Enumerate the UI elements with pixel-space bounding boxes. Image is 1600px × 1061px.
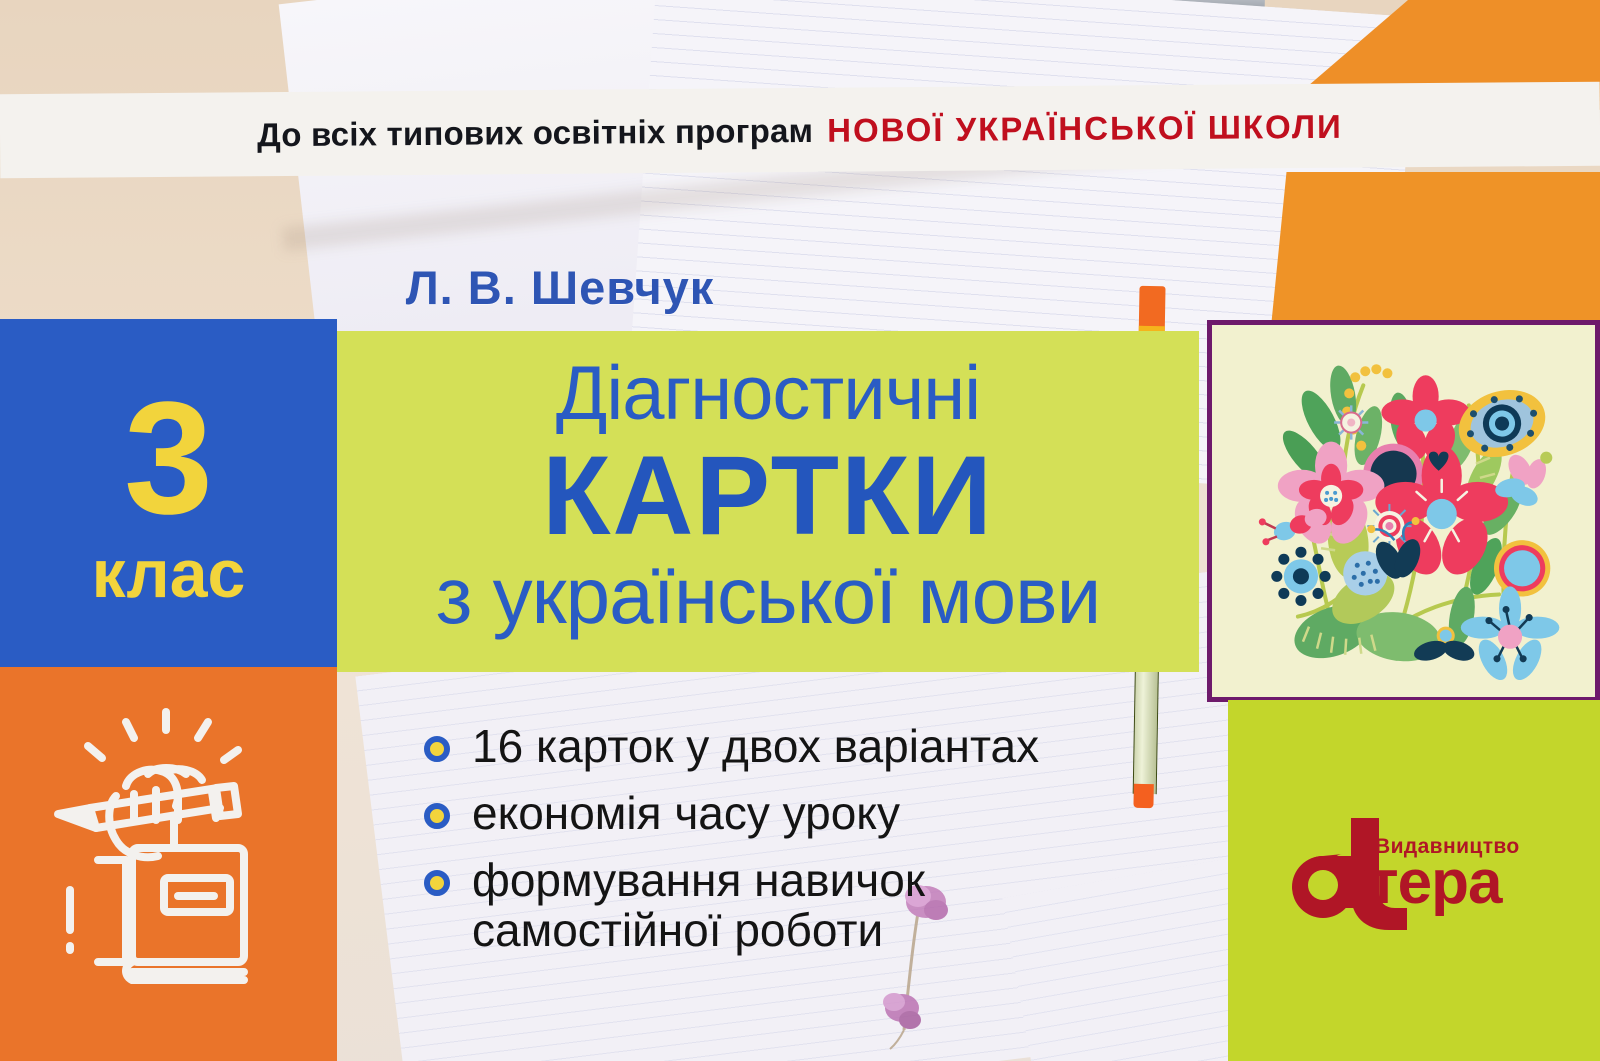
- banner-highlight: НОВОЇ УКРАЇНСЬКОЇ ШКОЛИ: [827, 108, 1343, 150]
- author-name: Л. В. Шевчук: [0, 260, 1120, 315]
- bullet-dot-icon: [424, 870, 450, 896]
- grade-label: клас: [0, 540, 337, 608]
- program-banner-text: До всіх типових освітніх програм НОВОЇ У…: [0, 89, 1600, 174]
- book-cover: До всіх типових освітніх програм НОВОЇ У…: [0, 0, 1600, 1061]
- title-line-3: з української мови: [337, 556, 1199, 636]
- floral-bouquet-illustration: [1207, 320, 1600, 702]
- list-item: 16 карток у двох варіантах: [424, 722, 1124, 771]
- orange-accent-right: [1270, 172, 1600, 337]
- bullet-dot-icon: [424, 736, 450, 762]
- banner-prefix: До всіх типових освітніх програм: [257, 112, 813, 154]
- feature-text: формування навичок самостійної роботи: [472, 856, 925, 954]
- feature-text: 16 карток у двох варіантах: [472, 722, 1039, 771]
- hand-holding-pencil-book-icon: [38, 700, 298, 990]
- feature-text: економія часу уроку: [472, 789, 900, 838]
- pen-tip: [1133, 784, 1153, 808]
- title-line-2: КАРТКИ: [337, 440, 1199, 552]
- grade-number: 3: [0, 378, 337, 538]
- list-item: економія часу уроку: [424, 789, 1124, 838]
- feature-list: 16 карток у двох варіантах економія часу…: [424, 722, 1124, 973]
- title-line-1: Діагностичні: [337, 356, 1199, 432]
- bullet-dot-icon: [424, 803, 450, 829]
- list-item: формування навичок самостійної роботи: [424, 856, 1124, 954]
- publisher-name: ітера: [1352, 852, 1501, 914]
